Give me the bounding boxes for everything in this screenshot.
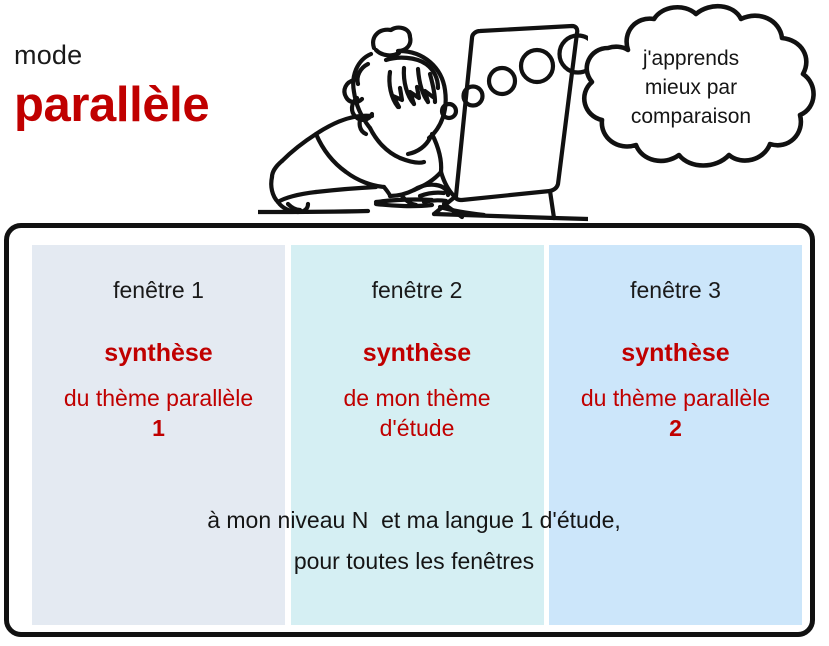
window-panel-1-label: fenêtre 1 [32,277,285,304]
window-panel-2-description: de mon thème d'étude [291,383,544,443]
page-title: parallèle [14,76,284,134]
window-panel-1-synthese: synthèse [32,339,285,367]
window-panel-3-label: fenêtre 3 [549,277,802,304]
window-panel-2[interactable]: fenêtre 2 synthèse de mon thème d'étude [291,245,544,625]
window-panel-3-number: 2 [549,413,802,443]
window-panel-2-number: d'étude [291,413,544,443]
window-panel-2-description-text: de mon thème [343,385,490,411]
student-at-laptop-illustration [258,4,588,224]
panels-container: fenêtre 1 synthèse du thème parallèle 1 … [32,245,802,625]
window-panel-3-description: du thème parallèle 2 [549,383,802,443]
window-panel-1-number: 1 [32,413,285,443]
window-panel-3-description-text: du thème parallèle [581,385,770,411]
window-frame: fenêtre 1 synthèse du thème parallèle 1 … [4,223,815,637]
window-panel-3-synthese: synthèse [549,339,802,367]
title-block: mode parallèle [14,40,284,134]
window-panel-1-description-text: du thème parallèle [64,385,253,411]
thought-bubble: j'apprends mieux par comparaison [560,2,822,172]
window-panel-2-synthese: synthèse [291,339,544,367]
window-panel-1-description: du thème parallèle 1 [32,383,285,443]
window-panel-1[interactable]: fenêtre 1 synthèse du thème parallèle 1 [32,245,285,625]
mode-label: mode [14,40,284,70]
window-panel-2-label: fenêtre 2 [291,277,544,304]
window-panel-3[interactable]: fenêtre 3 synthèse du thème parallèle 2 [549,245,802,625]
header-area: mode parallèle [0,0,829,223]
